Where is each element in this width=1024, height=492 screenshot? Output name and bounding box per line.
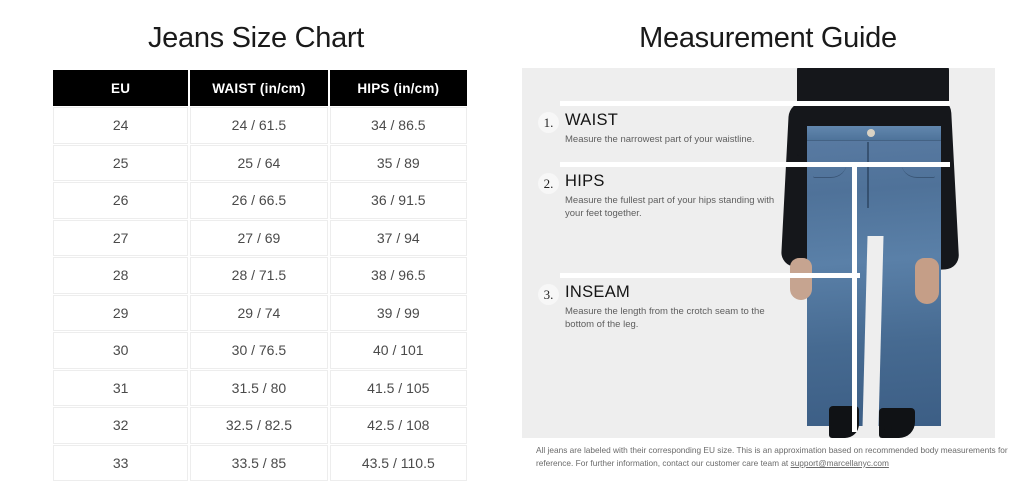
guide-item-waist: 1. WAIST Measure the narrowest part of y…: [538, 110, 806, 146]
cell-waist: 28 / 71.5: [190, 257, 327, 294]
table-row: 32 32.5 / 82.5 42.5 / 108: [53, 407, 467, 444]
table-head: EU WAIST (in/cm) HIPS (in/cm): [53, 70, 467, 106]
cell-hips: 43.5 / 110.5: [330, 445, 467, 482]
measurement-guide-box: 1. WAIST Measure the narrowest part of y…: [522, 68, 995, 438]
cell-hips: 35 / 89: [330, 145, 467, 182]
table-body: 24 24 / 61.5 34 / 86.5 25 25 / 64 35 / 8…: [53, 107, 467, 481]
jeans-button-icon: [867, 129, 875, 137]
cell-eu: 32: [53, 407, 188, 444]
page-title-measurement-guide: Measurement Guide: [512, 0, 1024, 55]
support-email-link[interactable]: support@marcellanyc.com: [791, 458, 889, 468]
guide-item-inseam: 3. INSEAM Measure the length from the cr…: [538, 282, 806, 332]
table-row: 26 26 / 66.5 36 / 91.5: [53, 182, 467, 219]
jeans-size-chart-panel: Jeans Size Chart EU WAIST (in/cm) HIPS (…: [0, 0, 512, 492]
guide-title-inseam: INSEAM: [565, 282, 780, 303]
table-row: 30 30 / 76.5 40 / 101: [53, 332, 467, 369]
cell-hips: 42.5 / 108: [330, 407, 467, 444]
column-header-eu: EU: [53, 70, 188, 106]
cell-hips: 37 / 94: [330, 220, 467, 257]
column-header-hips: HIPS (in/cm): [330, 70, 467, 106]
cell-hips: 39 / 99: [330, 295, 467, 332]
table-row: 29 29 / 74 39 / 99: [53, 295, 467, 332]
table-row: 28 28 / 71.5 38 / 96.5: [53, 257, 467, 294]
guide-number-badge: 1.: [538, 112, 559, 133]
guide-number-badge: 2.: [538, 173, 559, 194]
cell-hips: 36 / 91.5: [330, 182, 467, 219]
cell-hips: 41.5 / 105: [330, 370, 467, 407]
table-header-row: EU WAIST (in/cm) HIPS (in/cm): [53, 70, 467, 106]
cell-waist: 27 / 69: [190, 220, 327, 257]
guide-desc-hips: Measure the fullest part of your hips st…: [565, 194, 780, 221]
cell-waist: 29 / 74: [190, 295, 327, 332]
guide-desc-inseam: Measure the length from the crotch seam …: [565, 305, 780, 332]
cell-hips: 40 / 101: [330, 332, 467, 369]
guide-item-hips: 2. HIPS Measure the fullest part of your…: [538, 171, 806, 221]
column-header-waist: WAIST (in/cm): [190, 70, 327, 106]
cell-eu: 26: [53, 182, 188, 219]
inseam-measurement-line: [560, 273, 860, 278]
measurement-guide-panel: Measurement Guide: [512, 0, 1024, 492]
cell-hips: 38 / 96.5: [330, 257, 467, 294]
jeans-fly-seam: [867, 142, 869, 208]
cell-waist: 32.5 / 82.5: [190, 407, 327, 444]
table-row: 24 24 / 61.5 34 / 86.5: [53, 107, 467, 144]
footnote: All jeans are labeled with their corresp…: [536, 444, 1008, 470]
cell-eu: 24: [53, 107, 188, 144]
cell-waist: 24 / 61.5: [190, 107, 327, 144]
size-chart-table: EU WAIST (in/cm) HIPS (in/cm) 24 24 / 61…: [51, 69, 469, 482]
cell-waist: 31.5 / 80: [190, 370, 327, 407]
size-guide-page: Jeans Size Chart EU WAIST (in/cm) HIPS (…: [0, 0, 1024, 492]
hips-measurement-line: [560, 162, 950, 167]
cell-eu: 33: [53, 445, 188, 482]
cell-eu: 30: [53, 332, 188, 369]
cell-waist: 33.5 / 85: [190, 445, 327, 482]
table-row: 25 25 / 64 35 / 89: [53, 145, 467, 182]
waist-measurement-line: [560, 101, 950, 106]
guide-number-badge: 3.: [538, 284, 559, 305]
cell-waist: 25 / 64: [190, 145, 327, 182]
cell-eu: 31: [53, 370, 188, 407]
page-title-size-chart: Jeans Size Chart: [0, 0, 512, 55]
model-hand-right: [915, 258, 939, 304]
table-row: 27 27 / 69 37 / 94: [53, 220, 467, 257]
cell-waist: 30 / 76.5: [190, 332, 327, 369]
inseam-vertical-line: [852, 162, 857, 432]
footnote-text: All jeans are labeled with their corresp…: [536, 445, 1008, 468]
cell-eu: 27: [53, 220, 188, 257]
table-row: 33 33.5 / 85 43.5 / 110.5: [53, 445, 467, 482]
cell-hips: 34 / 86.5: [330, 107, 467, 144]
cell-eu: 29: [53, 295, 188, 332]
table-row: 31 31.5 / 80 41.5 / 105: [53, 370, 467, 407]
guide-desc-waist: Measure the narrowest part of your waist…: [565, 133, 755, 146]
cell-eu: 25: [53, 145, 188, 182]
guide-title-hips: HIPS: [565, 171, 780, 192]
guide-title-waist: WAIST: [565, 110, 755, 131]
cell-eu: 28: [53, 257, 188, 294]
cell-waist: 26 / 66.5: [190, 182, 327, 219]
